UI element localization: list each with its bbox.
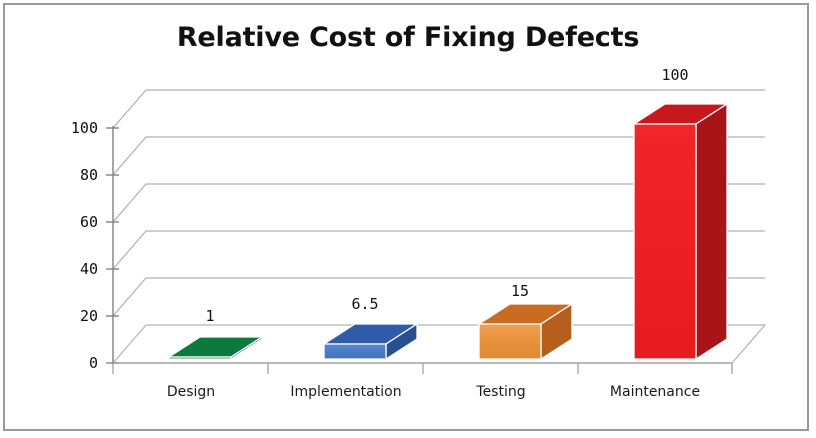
y-axis	[106, 126, 119, 364]
x-axis	[113, 363, 732, 374]
ytick-label-40: 40	[38, 260, 98, 278]
ytick-label-20: 20	[38, 307, 98, 325]
value-label-design: 1	[150, 307, 270, 325]
ytick-label-80: 80	[38, 166, 98, 184]
ytick-label-60: 60	[38, 213, 98, 231]
bar-maintenance[interactable]	[634, 104, 727, 359]
ytick-label-0: 0	[38, 354, 98, 372]
value-label-testing: 15	[460, 282, 580, 300]
value-label-implementation: 6.5	[305, 295, 425, 313]
value-label-maintenance: 100	[615, 66, 735, 84]
ytick-label-100: 100	[38, 119, 98, 137]
chart-page: Relative Cost of Fixing Defects	[0, 0, 816, 438]
category-label-maintenance: Maintenance	[555, 384, 755, 400]
